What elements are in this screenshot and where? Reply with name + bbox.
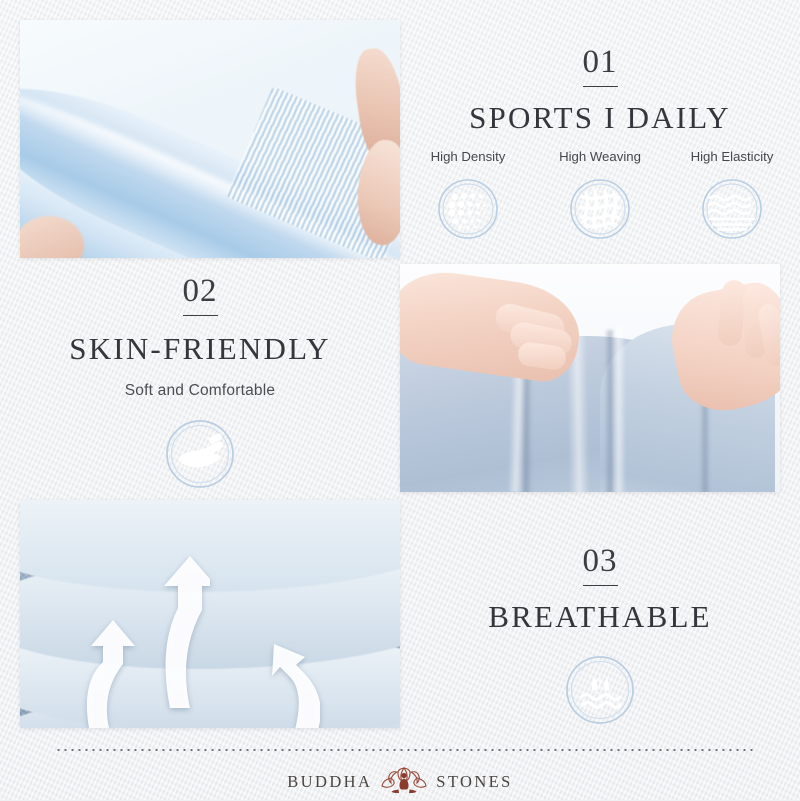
section-subtitle-skin-friendly: Soft and Comfortable xyxy=(0,382,400,400)
feature-label: High Weaving xyxy=(545,149,655,164)
feature-high-density: High Density xyxy=(413,149,523,246)
section-number-03: 03 xyxy=(400,545,800,586)
section-number-01: 01 xyxy=(400,46,800,87)
section-sports-daily: 01 SPORTS I DAILY High Density xyxy=(400,46,800,246)
brand-word-right: STONES xyxy=(436,772,512,792)
airflow-arrow-icon xyxy=(140,518,210,708)
hand-holding-fabric-icon xyxy=(164,418,236,490)
feature-high-elasticity: High Elasticity xyxy=(677,149,787,246)
breathable-airflow-photo xyxy=(20,500,400,728)
feature-label: High Elasticity xyxy=(677,149,787,164)
woven-mesh-icon xyxy=(568,177,632,241)
section-title-skin-friendly: SKIN-FRIENDLY xyxy=(0,332,400,366)
brand-word-left: BUDDHA xyxy=(287,772,372,792)
brand-logo: BUDDHA STONES xyxy=(0,762,800,801)
vapor-waves-icon xyxy=(564,654,636,726)
airflow-arrow-icon xyxy=(75,608,137,728)
section-title-breathable: BREATHABLE xyxy=(400,600,800,634)
airflow-arrow-icon xyxy=(250,618,320,728)
section-breathable: 03 BREATHABLE xyxy=(400,545,800,731)
section-skin-friendly: 02 SKIN-FRIENDLY Soft and Comfortable xyxy=(0,275,400,495)
feature-list: High Density xyxy=(400,149,800,246)
fabric-stretch-photo xyxy=(20,20,400,258)
infographic-page: 01 SPORTS I DAILY High Density xyxy=(0,0,800,800)
section-number-02: 02 xyxy=(0,275,400,316)
hand-drape-photo xyxy=(400,264,780,492)
dotted-divider xyxy=(55,749,755,751)
section-title-sports-daily: SPORTS I DAILY xyxy=(400,101,800,135)
dots-grid-icon xyxy=(436,177,500,241)
wavy-lines-icon xyxy=(700,177,764,241)
feature-label: High Density xyxy=(413,149,523,164)
feature-high-weaving: High Weaving xyxy=(545,149,655,246)
lotus-meditation-icon xyxy=(381,762,427,801)
